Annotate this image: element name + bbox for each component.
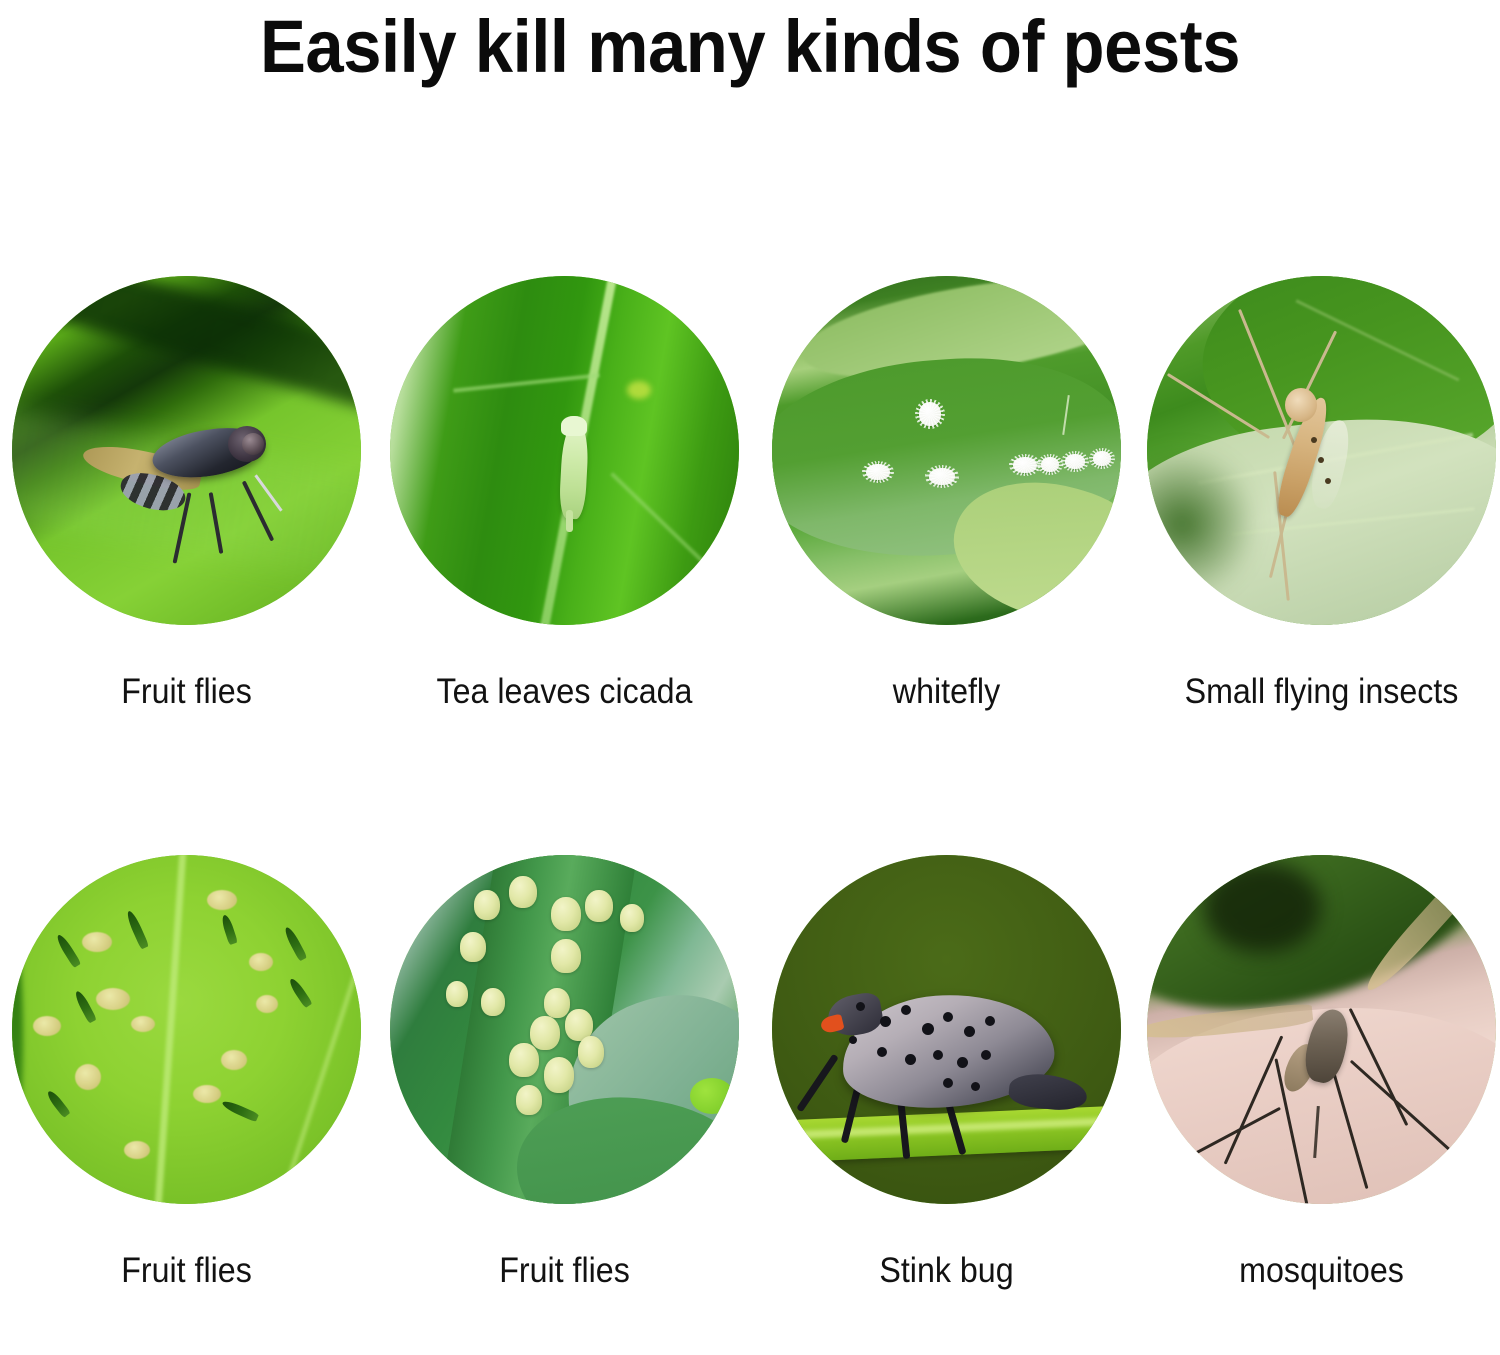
lanternfly-scene-icon	[772, 855, 1121, 1204]
pest-photo-fruit-flies-2	[12, 855, 361, 1204]
fruit-fly-scene-icon	[12, 276, 361, 625]
pest-photo-tea-leaves-cicada	[390, 276, 739, 625]
whitefly-scene-icon	[772, 276, 1121, 625]
pest-label-mosquitoes: mosquitoes	[1124, 1251, 1500, 1291]
cicada-nymph-scene-icon	[390, 276, 739, 625]
midge-scene-icon	[1147, 276, 1496, 625]
pest-photo-small-flying-insects	[1147, 276, 1496, 625]
pest-label-tea-leaves-cicada: Tea leaves cicada	[367, 672, 762, 712]
pest-infographic: Easily kill many kinds of pests	[0, 0, 1500, 1319]
pest-cell-small-flying-insects[interactable]: Small flying insects	[1147, 276, 1496, 776]
larvae-on-leaf-scene-icon	[12, 855, 361, 1204]
pest-cell-whitefly[interactable]: whitefly	[772, 276, 1121, 776]
pest-row-2: Fruit flies	[12, 855, 1492, 1355]
pest-photo-fruit-flies-1	[12, 276, 361, 625]
pest-cell-fruit-flies-2[interactable]: Fruit flies	[12, 855, 361, 1355]
pest-photo-whitefly	[772, 276, 1121, 625]
aphid-cluster-scene-icon	[390, 855, 739, 1204]
pest-label-whitefly: whitefly	[749, 672, 1144, 712]
pest-cell-stink-bug[interactable]: Stink bug	[772, 855, 1121, 1355]
pest-photo-mosquitoes	[1147, 855, 1496, 1204]
pest-label-stink-bug: Stink bug	[749, 1251, 1144, 1291]
mosquito-scene-icon	[1147, 855, 1496, 1204]
page-title: Easily kill many kinds of pests	[53, 4, 1448, 90]
pest-grid: Fruit flies Tea leaves cicada	[12, 276, 1492, 1306]
pest-label-fruit-flies-2: Fruit flies	[0, 1251, 384, 1291]
pest-label-fruit-flies-1: Fruit flies	[0, 672, 384, 712]
pest-photo-stink-bug	[772, 855, 1121, 1204]
pest-cell-tea-leaves-cicada[interactable]: Tea leaves cicada	[390, 276, 739, 776]
pest-photo-fruit-flies-3	[390, 855, 739, 1204]
pest-label-fruit-flies-3: Fruit flies	[367, 1251, 762, 1291]
pest-cell-fruit-flies-1[interactable]: Fruit flies	[12, 276, 361, 776]
pest-label-small-flying-insects: Small flying insects	[1124, 672, 1500, 712]
pest-row-1: Fruit flies Tea leaves cicada	[12, 276, 1492, 776]
pest-cell-mosquitoes[interactable]: mosquitoes	[1147, 855, 1496, 1355]
pest-cell-fruit-flies-3[interactable]: Fruit flies	[390, 855, 739, 1355]
